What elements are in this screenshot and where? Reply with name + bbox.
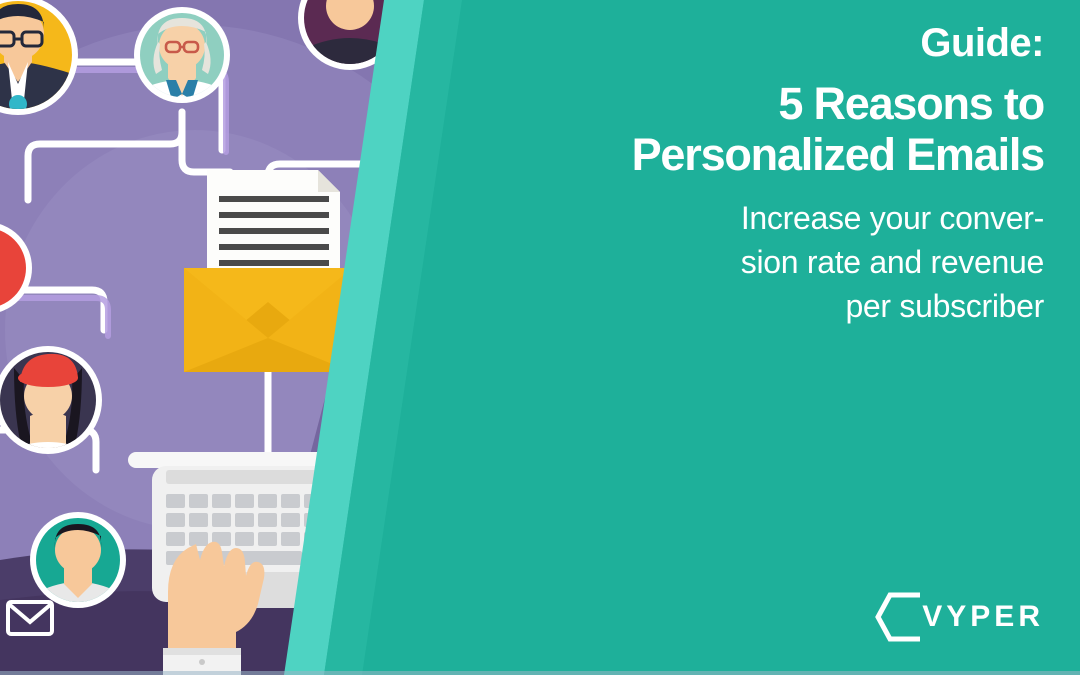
vyper-wordmark: VYPER: [922, 602, 1044, 632]
subhead-line-3: per subscriber: [524, 284, 1044, 328]
subhead-line-1: Increase your conver-: [524, 196, 1044, 240]
subhead-line-2: sion rate and revenue: [524, 240, 1044, 284]
headline-line-1: 5 Reasons to: [524, 79, 1044, 129]
banner-subhead: Increase your conver- sion rate and reve…: [524, 196, 1044, 328]
open-envelope-icon: [184, 170, 352, 372]
banner-headline: 5 Reasons to Personalized Emails: [524, 79, 1044, 180]
guide-banner: Guide: 5 Reasons to Personalized Emails …: [0, 0, 1080, 675]
banner-kicker: Guide:: [524, 22, 1044, 65]
hexagon-bracket-icon: [874, 591, 920, 643]
banner-text-panel: Guide: 5 Reasons to Personalized Emails …: [524, 22, 1044, 328]
headline-line-2: Personalized Emails: [524, 130, 1044, 180]
vyper-logo[interactable]: VYPER: [874, 591, 1044, 643]
bottom-strip: [0, 671, 1080, 675]
